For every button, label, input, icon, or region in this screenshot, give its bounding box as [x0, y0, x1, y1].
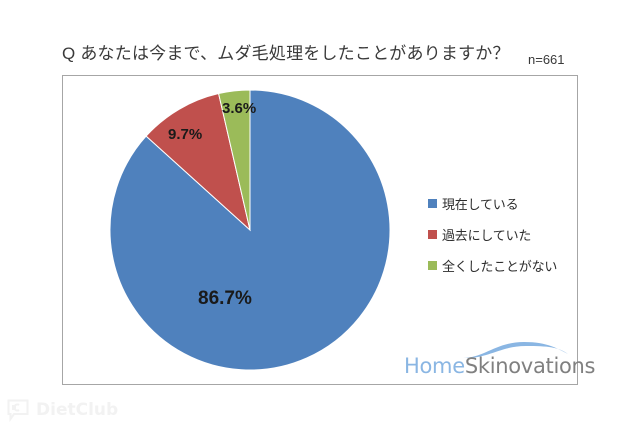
watermark: DietClub: [6, 398, 118, 422]
legend-item-0[interactable]: 現在している: [428, 188, 568, 219]
legend-swatch-icon: [428, 261, 437, 270]
chart-legend: 現在している 過去にしていた 全くしたことがない: [428, 188, 568, 281]
legend-item-1[interactable]: 過去にしていた: [428, 219, 568, 250]
legend-label: 全くしたことがない: [442, 256, 557, 275]
sample-size-label: n=661: [528, 52, 565, 67]
brand-logo: HomeSkinovations: [404, 340, 572, 382]
legend-item-2[interactable]: 全くしたことがない: [428, 250, 568, 281]
legend-label: 過去にしていた: [442, 225, 531, 244]
watermark-text: DietClub: [36, 400, 118, 420]
pie-label-0: 86.7%: [198, 288, 252, 310]
logo-text: HomeSkinovations: [404, 354, 595, 378]
legend-label: 現在している: [442, 194, 518, 213]
page-title: Q あなたは今まで、ムダ毛処理をしたことがありますか？: [62, 39, 510, 64]
legend-swatch-icon: [428, 199, 437, 208]
logo-text-home: Home: [404, 354, 465, 378]
pie-label-1: 9.7%: [168, 126, 202, 143]
pie-svg: [108, 88, 392, 372]
pie-chart: [108, 88, 392, 372]
logo-text-skin: Skinovations: [465, 354, 595, 378]
chart-page: Q あなたは今まで、ムダ毛処理をしたことがありますか？ n=661 86.7% …: [0, 0, 640, 427]
speech-bubble-icon: [6, 398, 30, 422]
legend-swatch-icon: [428, 230, 437, 239]
pie-label-2: 3.6%: [222, 100, 256, 117]
